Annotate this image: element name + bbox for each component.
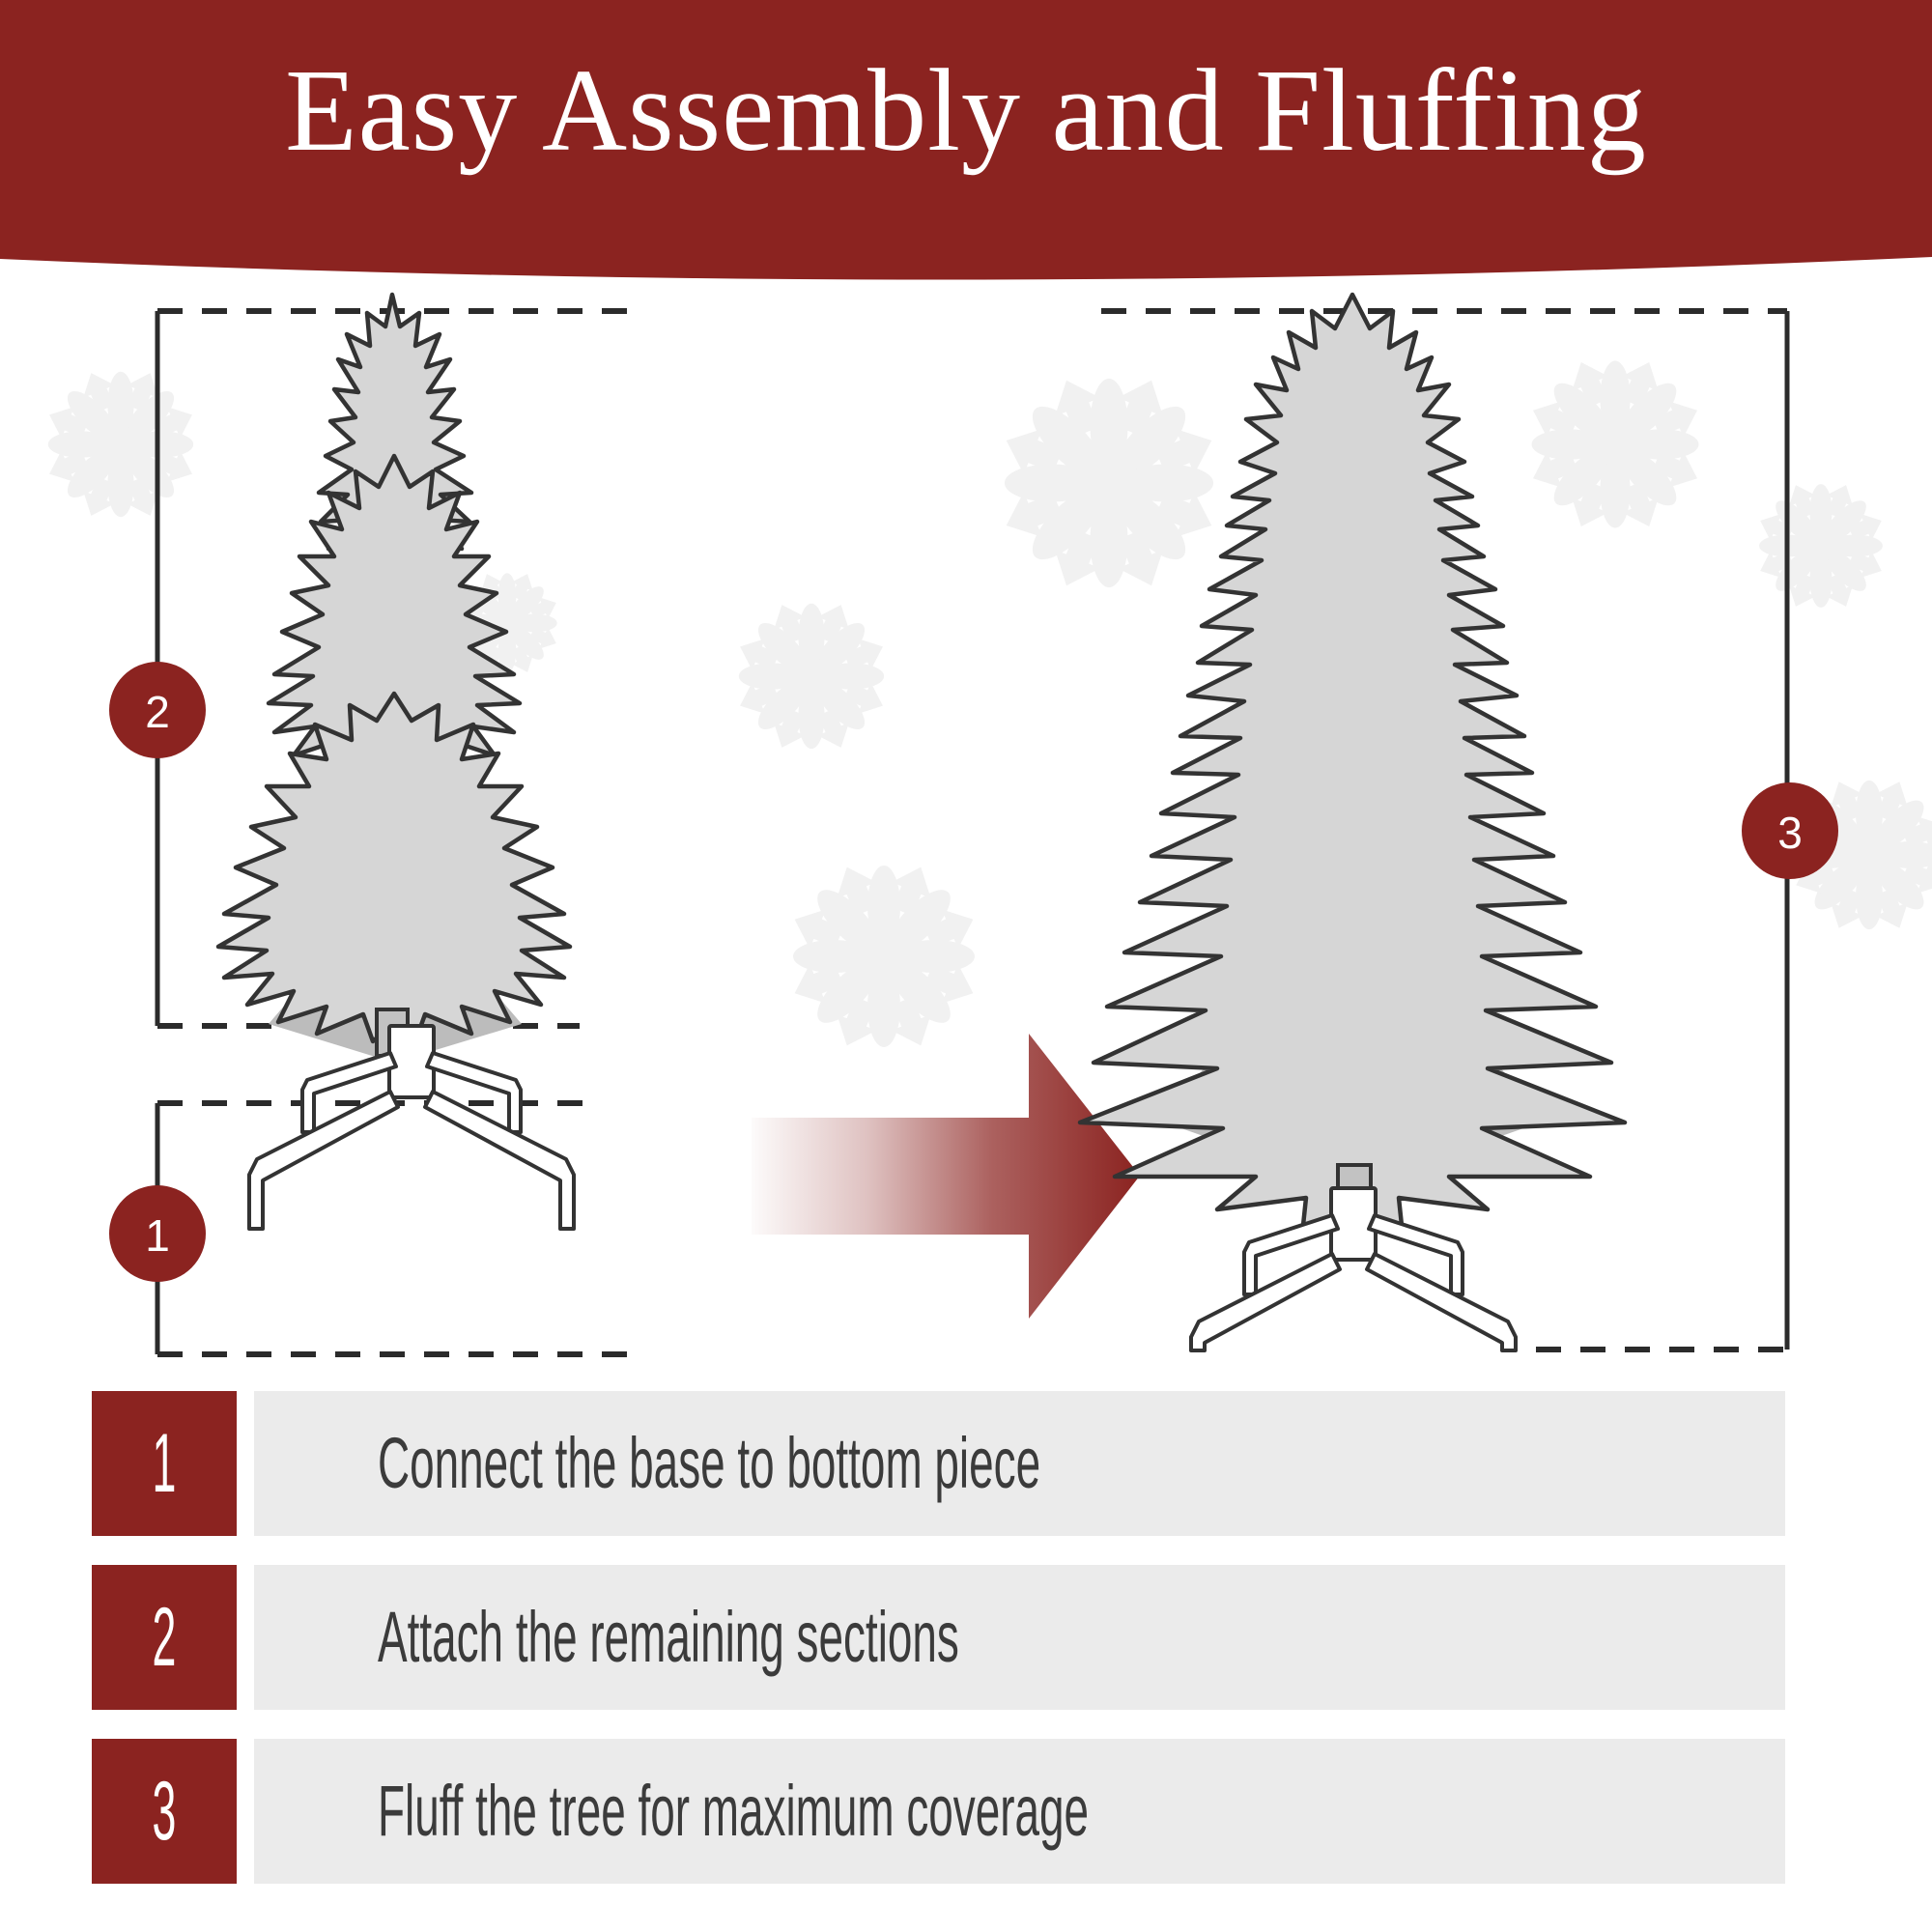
header-banner: Easy Assembly and Fluffing bbox=[0, 0, 1932, 290]
step-row-2[interactable]: 2 Attach the remaining sections bbox=[0, 1565, 1932, 1710]
badge-1-label: 1 bbox=[145, 1210, 170, 1261]
step-list: 1 Connect the base to bottom piece 2 Att… bbox=[0, 1391, 1932, 1913]
disassembled-tree-sections bbox=[218, 295, 574, 1229]
assembly-diagram: 2 1 3 bbox=[0, 290, 1932, 1381]
step-1-number-box: 1 bbox=[92, 1391, 237, 1536]
badge-1[interactable]: 1 bbox=[109, 1185, 206, 1282]
step-3-text: Fluff the tree for maximum coverage bbox=[378, 1776, 1089, 1847]
step-1-number: 1 bbox=[153, 1422, 177, 1505]
badge-3-label: 3 bbox=[1777, 808, 1803, 858]
badge-2[interactable]: 2 bbox=[109, 662, 206, 758]
snowflake-icon bbox=[733, 598, 889, 753]
tree-stand bbox=[249, 1026, 574, 1229]
step-3-text-box: Fluff the tree for maximum coverage bbox=[254, 1739, 1785, 1884]
tree-bottom-section bbox=[218, 694, 570, 1063]
snowflake-icon bbox=[997, 371, 1221, 595]
step-1-text: Connect the base to bottom piece bbox=[378, 1428, 1040, 1499]
snowflake-icon bbox=[43, 366, 198, 522]
step-2-number: 2 bbox=[153, 1596, 177, 1679]
step-2-text: Attach the remaining sections bbox=[378, 1602, 959, 1673]
header-shape bbox=[0, 0, 1932, 290]
step-2-number-box: 2 bbox=[92, 1565, 237, 1710]
tree-stand-assembled bbox=[1191, 1188, 1516, 1350]
step-row-3[interactable]: 3 Fluff the tree for maximum coverage bbox=[0, 1739, 1932, 1884]
badge-3[interactable]: 3 bbox=[1742, 782, 1838, 879]
step-1-text-box: Connect the base to bottom piece bbox=[254, 1391, 1785, 1536]
badge-2-label: 2 bbox=[145, 687, 170, 737]
right-arrow bbox=[752, 1034, 1140, 1319]
snowflake-icon bbox=[1754, 479, 1887, 611]
snowflake-icon bbox=[786, 859, 981, 1054]
step-row-1[interactable]: 1 Connect the base to bottom piece bbox=[0, 1391, 1932, 1536]
step-3-number-box: 3 bbox=[92, 1739, 237, 1884]
header-curve-fill bbox=[0, 0, 1932, 280]
step-3-number: 3 bbox=[153, 1770, 177, 1853]
step-2-text-box: Attach the remaining sections bbox=[254, 1565, 1785, 1710]
snowflake-icon bbox=[1525, 355, 1704, 533]
